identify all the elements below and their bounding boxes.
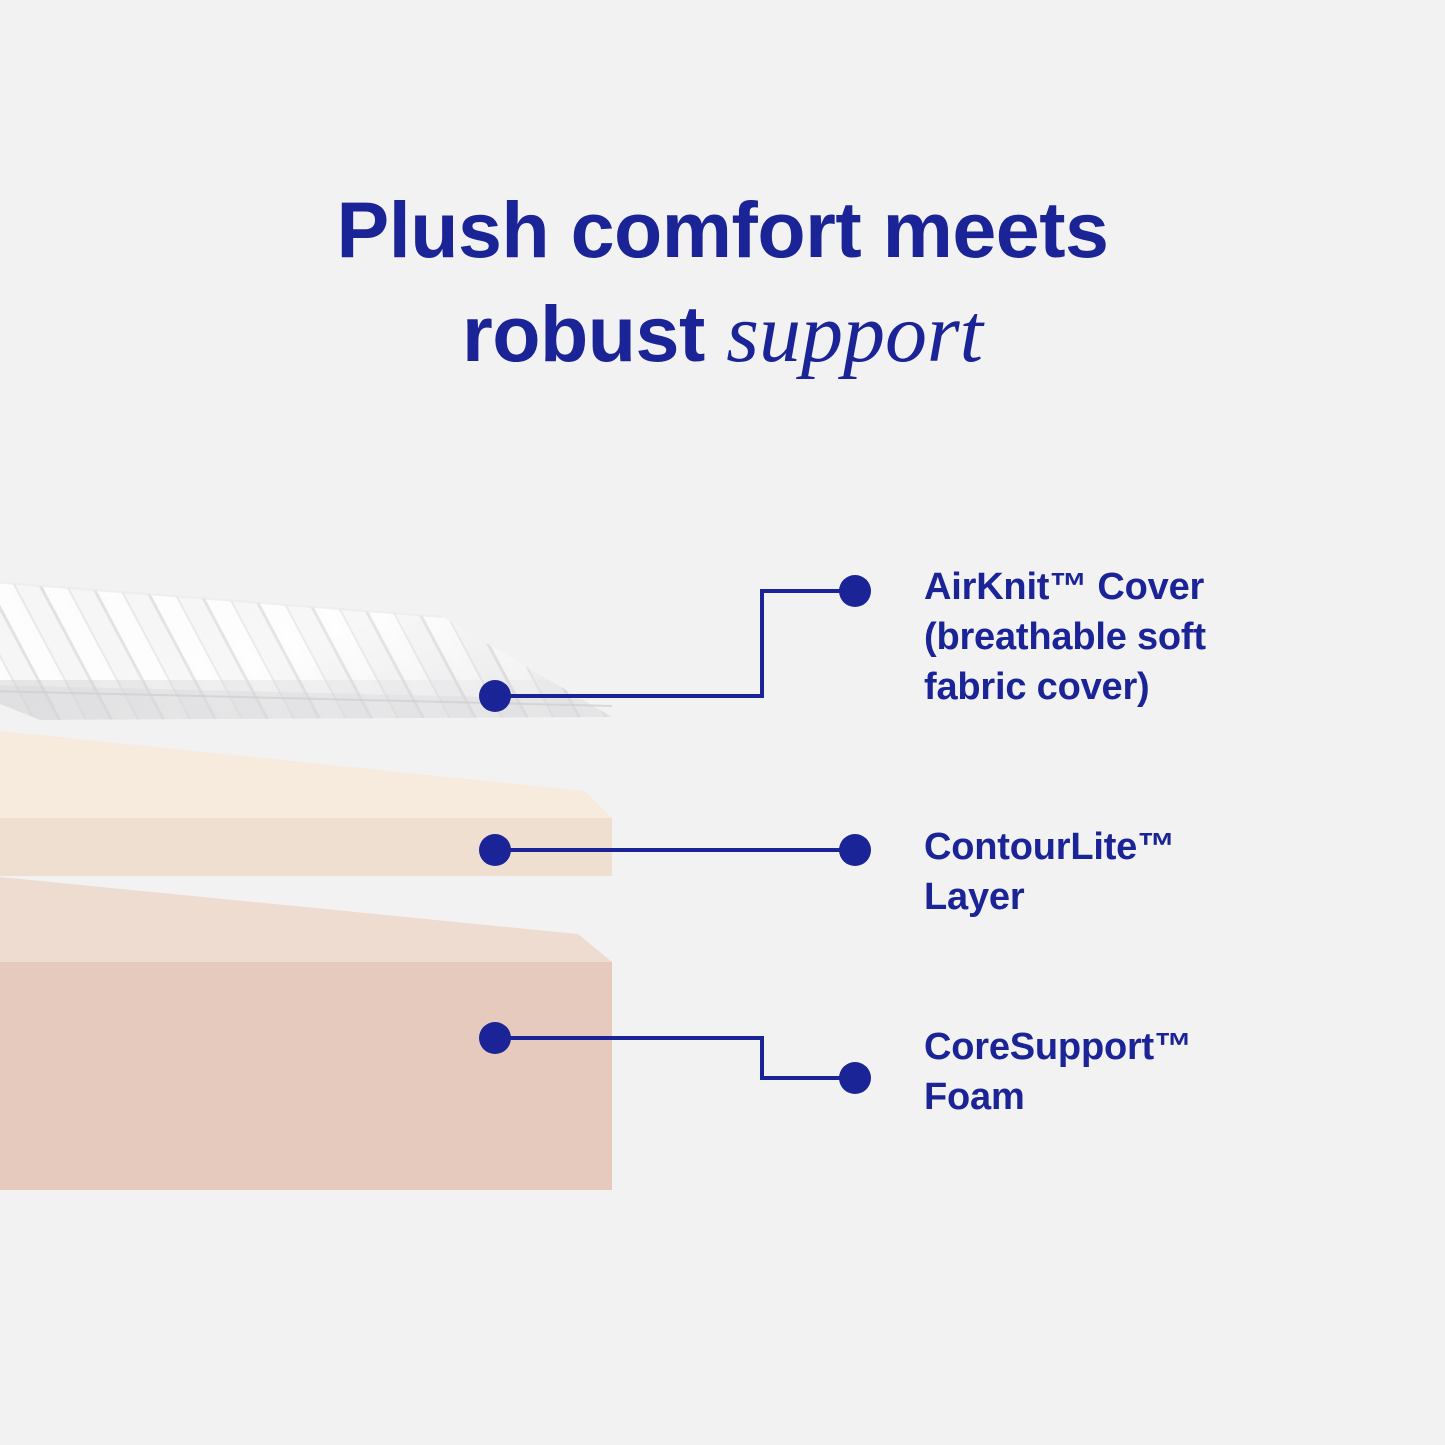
- mattress-cross-section-illustration: [0, 560, 660, 1210]
- page-title-line-2: robust support: [0, 280, 1445, 388]
- callout-label-line: AirKnit™ Cover: [924, 562, 1344, 612]
- callout-label-coresupport-foam: CoreSupport™ Foam: [924, 1022, 1344, 1122]
- page-title-line-1: Plush comfort meets: [337, 185, 1109, 274]
- contourlite-front-face: [0, 818, 612, 876]
- callout-label-line: Foam: [924, 1072, 1344, 1122]
- callout-label-line: CoreSupport™: [924, 1022, 1344, 1072]
- mattress-layer-coresupport-foam: [0, 876, 612, 1190]
- coresupport-top-face: [0, 876, 612, 962]
- coresupport-front-face: [0, 962, 612, 1190]
- callout-label-airknit-cover: AirKnit™ Cover (breathable soft fabric c…: [924, 562, 1344, 712]
- label-dot-airknit-cover[interactable]: [839, 575, 871, 607]
- page-title: Plush comfort meets robust support: [0, 179, 1445, 388]
- mattress-layers-svg: [0, 560, 660, 1210]
- callout-label-contourlite-layer: ContourLite™ Layer: [924, 822, 1344, 922]
- callout-label-line: fabric cover): [924, 662, 1344, 712]
- label-dot-coresupport-foam[interactable]: [839, 1062, 871, 1094]
- label-dot-contourlite-layer[interactable]: [839, 834, 871, 866]
- page-title-line-2-italic: support: [726, 287, 983, 380]
- mattress-layer-airknit-cover: [0, 560, 660, 760]
- contourlite-top-face: [0, 730, 612, 818]
- callout-label-line: ContourLite™: [924, 822, 1344, 872]
- airknit-side-shading: [0, 680, 660, 740]
- callout-label-line: Layer: [924, 872, 1344, 922]
- page-title-line-2-bold: robust: [462, 289, 726, 378]
- mattress-layer-contourlite: [0, 730, 612, 876]
- illustration-canvas: Plush comfort meets robust support: [0, 0, 1445, 1445]
- callout-label-line: (breathable soft: [924, 612, 1344, 662]
